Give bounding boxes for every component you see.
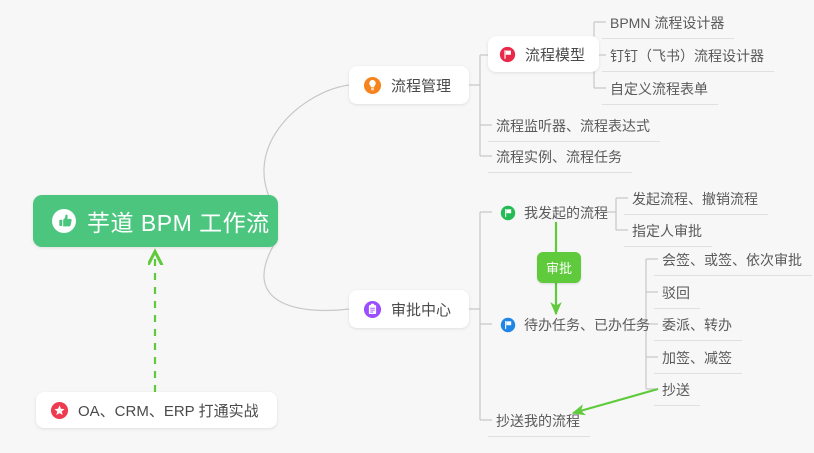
leaf-custom-form[interactable]: 自定义流程表单 [602, 76, 718, 105]
flag-icon [500, 317, 516, 333]
flag-icon [499, 46, 516, 63]
leaf-cc[interactable]: 抄送 [654, 377, 700, 406]
leaf-instance-task[interactable]: 流程实例、流程任务 [488, 144, 632, 173]
root-node[interactable]: 芋道 BPM 工作流 [33, 195, 278, 247]
node-label: 流程模型 [525, 44, 585, 65]
edge-root-to-process-management [264, 85, 349, 213]
edge-root-to-approval-center [264, 238, 349, 310]
branch-label: 审批中心 [391, 299, 451, 320]
leaf-label: 驳回 [662, 283, 690, 303]
leaf-label: 钉钉（飞书）流程设计器 [610, 46, 764, 66]
leaf-label: 抄送我的流程 [496, 411, 580, 431]
leaf-assignee-approval[interactable]: 指定人审批 [624, 218, 712, 247]
leaf-label: 抄送 [662, 380, 690, 400]
node-my-initiated-process[interactable]: 我发起的流程 [492, 200, 618, 228]
node-label: 我发起的流程 [524, 203, 608, 223]
node-todo-done-tasks[interactable]: 待办任务、已办任务 [492, 312, 660, 340]
lightbulb-icon [363, 76, 382, 95]
root-node-label: 芋道 BPM 工作流 [87, 204, 270, 238]
leaf-bpmn-designer[interactable]: BPMN 流程设计器 [602, 10, 734, 39]
leaf-label: 委派、转办 [662, 315, 732, 335]
thumbs-up-icon [51, 208, 77, 234]
branch-label: 流程管理 [391, 75, 451, 96]
leaf-cc-to-me[interactable]: 抄送我的流程 [488, 408, 590, 437]
clipboard-icon [363, 300, 382, 319]
leaf-reject[interactable]: 驳回 [654, 280, 700, 309]
leaf-label: 发起流程、撤销流程 [632, 189, 758, 209]
leaf-label: 流程实例、流程任务 [496, 147, 622, 167]
branch-process-management[interactable]: 流程管理 [349, 66, 469, 104]
approve-badge[interactable]: 审批 [537, 252, 581, 283]
leaf-countersign[interactable]: 会签、或签、依次审批 [654, 247, 812, 276]
leaf-label: 加签、减签 [662, 348, 732, 368]
leaf-dingtalk-designer[interactable]: 钉钉（飞书）流程设计器 [602, 43, 774, 72]
leaf-listener-expression[interactable]: 流程监听器、流程表达式 [488, 113, 660, 142]
node-label: 待办任务、已办任务 [524, 315, 650, 335]
node-process-model[interactable]: 流程模型 [488, 36, 599, 72]
leaf-label: 指定人审批 [632, 221, 702, 241]
leaf-label: BPMN 流程设计器 [610, 13, 724, 33]
leaf-add-remove-sign[interactable]: 加签、减签 [654, 345, 742, 374]
leaf-label: 会签、或签、依次审批 [662, 250, 802, 270]
callout-label: OA、CRM、ERP 打通实战 [78, 400, 259, 421]
approve-badge-label: 审批 [546, 261, 572, 276]
flag-icon [500, 205, 516, 221]
leaf-label: 自定义流程表单 [610, 79, 708, 99]
leaf-start-cancel-process[interactable]: 发起流程、撤销流程 [624, 186, 768, 215]
branch-approval-center[interactable]: 审批中心 [349, 290, 469, 328]
callout-node-integration[interactable]: OA、CRM、ERP 打通实战 [36, 392, 277, 428]
leaf-label: 流程监听器、流程表达式 [496, 116, 650, 136]
star-icon [50, 401, 69, 420]
leaf-delegate-transfer[interactable]: 委派、转办 [654, 312, 742, 341]
mindmap-canvas: 芋道 BPM 工作流 流程管理 流程模型 BPMN 流程设计器 钉钉（飞书）流程 [0, 0, 814, 453]
